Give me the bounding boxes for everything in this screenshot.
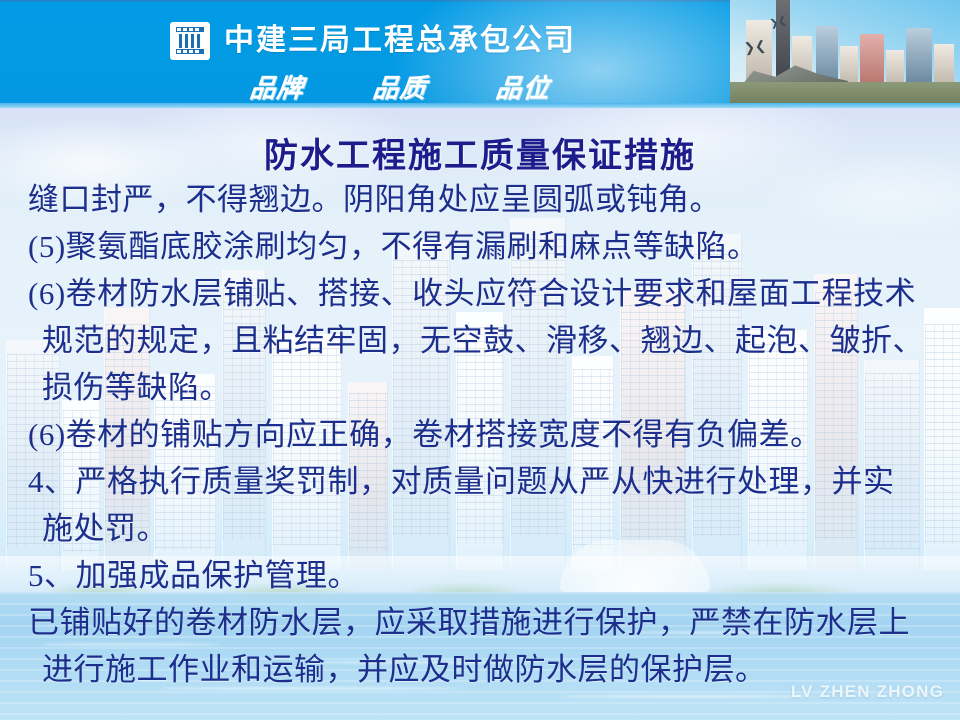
text-line: 损伤等缺陷。 — [28, 364, 952, 411]
tagline-word-2: 品质 — [371, 68, 429, 105]
text-line: 施处罚。 — [28, 505, 952, 552]
tagline-word-1: 品牌 — [248, 68, 306, 105]
text-line: 已铺贴好的卷材防水层，应采取措施进行保护，严禁在防水层上 — [28, 599, 952, 646]
text-line: (6)卷材防水层铺贴、搭接、收头应符合设计要求和屋面工程技术 — [28, 270, 952, 317]
page-title: 防水工程施工质量保证措施 — [0, 128, 960, 177]
slide-canvas: ❯❮ ❯❮ — [0, 0, 960, 720]
cscec-building-logo-icon — [170, 22, 210, 60]
watermark-label: LV ZHEN ZHONG — [791, 682, 944, 702]
brand-lockup: 中建三局工程总承包公司 — [170, 22, 576, 60]
text-line: (6)卷材的铺贴方向应正确，卷材搭接宽度不得有负偏差。 — [28, 411, 952, 458]
text-line: (5)聚氨酯底胶涂刷均匀，不得有漏刷和麻点等缺陷。 — [28, 223, 952, 270]
bird-icon: ❯❮ — [743, 39, 766, 55]
banner-cityscape-photo: ❯❮ ❯❮ — [730, 0, 960, 108]
text-line: 4、严格执行质量奖罚制，对质量问题从严从快进行处理，并实 — [28, 458, 952, 505]
tagline-word-3: 品位 — [494, 68, 552, 105]
slide-body-text: 缝口封严，不得翘边。阴阳角处应呈圆弧或钝角。 (5)聚氨酯底胶涂刷均匀，不得有漏… — [28, 176, 952, 693]
header-banner: ❯❮ ❯❮ — [0, 0, 960, 108]
company-name: 中建三局工程总承包公司 — [224, 22, 576, 60]
brand-tagline: 品牌 品质 品位 — [250, 68, 550, 105]
text-line: 缝口封严，不得翘边。阴阳角处应呈圆弧或钝角。 — [28, 176, 952, 223]
water-ripple — [560, 695, 820, 698]
text-line: 5、加强成品保护管理。 — [28, 552, 952, 599]
text-line: 规范的规定，且粘结牢固，无空鼓、滑移、翘边、起泡、皱折、 — [28, 317, 952, 364]
banner-bottom-strip — [0, 103, 960, 108]
